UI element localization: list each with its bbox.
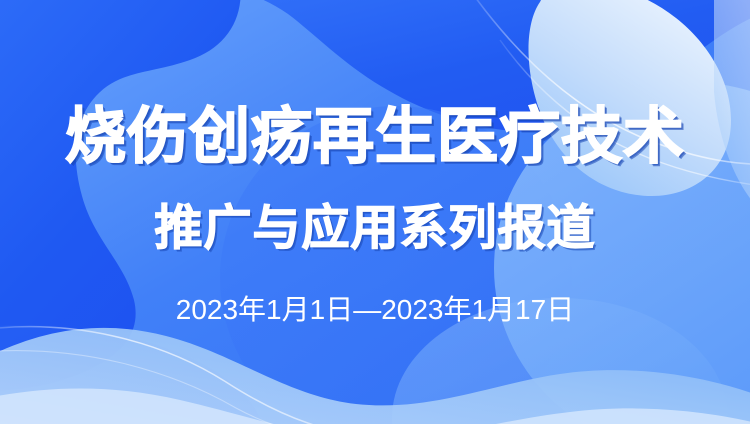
page-title: 烧伤创疡再生医疗技术 [0,100,750,174]
banner-content: 烧伤创疡再生医疗技术 推广与应用系列报道 2023年1月1日—2023年1月17… [0,0,750,424]
promo-banner: 烧伤创疡再生医疗技术 推广与应用系列报道 2023年1月1日—2023年1月17… [0,0,750,424]
date-range-label: 2023年1月1日—2023年1月17日 [0,292,750,328]
page-subtitle: 推广与应用系列报道 [0,198,750,258]
